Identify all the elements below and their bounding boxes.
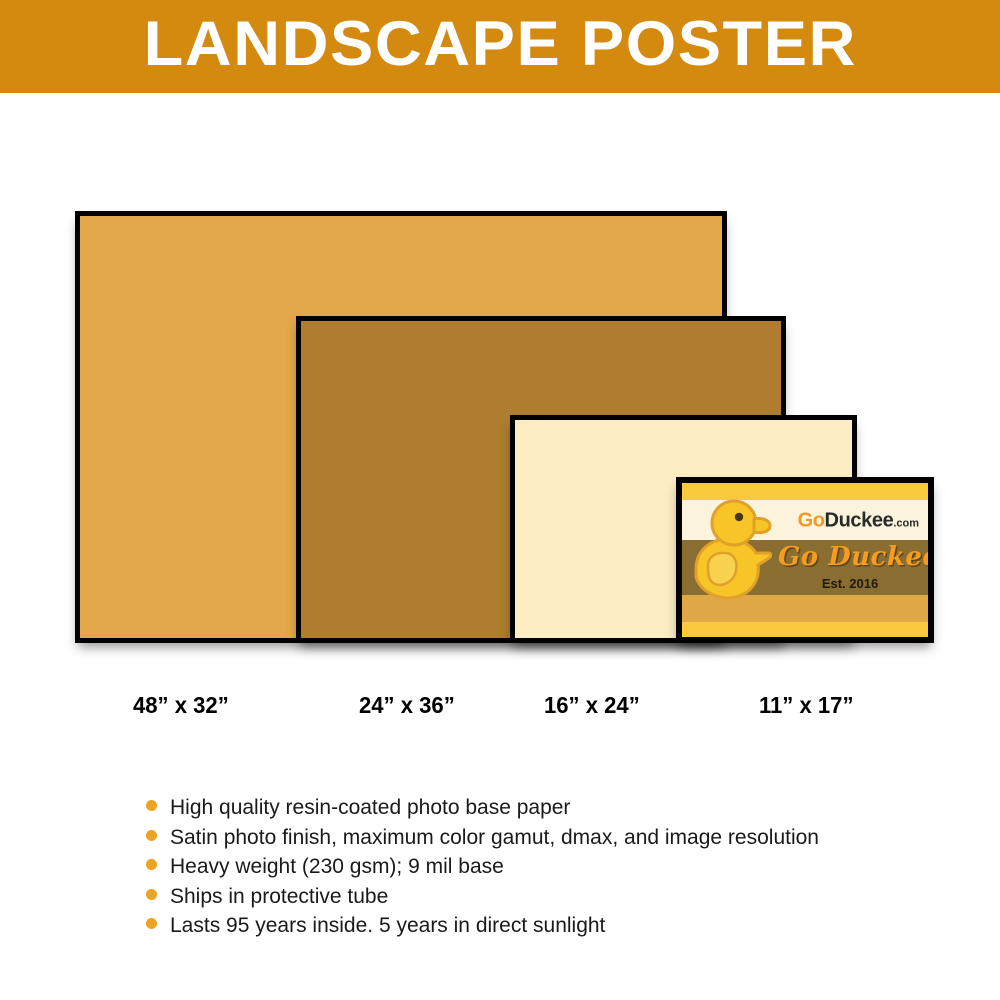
size-label-row: 48” x 32” 24” x 36” 16” x 24” 11” x 17” [0,692,1000,726]
feature-text: Ships in protective tube [170,885,388,909]
logo-wordmark: GoDuckee.com [798,509,919,532]
bullet-dot-icon [146,800,157,811]
list-item: Heavy weight (230 gsm); 9 mil base [146,855,966,879]
bullet-dot-icon [146,889,157,900]
size-label-24x36: 24” x 36” [359,692,455,719]
logo-script-text: Go Duckee [778,542,922,572]
feature-list: High quality resin-coated photo base pap… [146,796,966,944]
size-label-16x24: 16” x 24” [544,692,640,719]
list-item: Ships in protective tube [146,885,966,909]
feature-text: Heavy weight (230 gsm); 9 mil base [170,855,504,879]
list-item: Lasts 95 years inside. 5 years in direct… [146,914,966,938]
logo-wordmark-dotcom: .com [893,517,919,529]
logo-wordmark-go: Go [798,509,825,531]
page-title: LANDSCAPE POSTER [143,13,856,80]
bullet-dot-icon [146,830,157,841]
logo-established-text: Est. 2016 [778,576,922,591]
rubber-duck-icon [688,495,772,611]
logo-band-bottom [682,622,928,637]
goduckee-logo: GoDuckee.com Go Duckee Est. 2016 [682,483,928,637]
poster-size-diagram: GoDuckee.com Go Duckee Est. 2016 [0,93,1000,673]
bullet-dot-icon [146,859,157,870]
feature-text: Satin photo finish, maximum color gamut,… [170,826,819,850]
list-item: Satin photo finish, maximum color gamut,… [146,826,966,850]
list-item: High quality resin-coated photo base pap… [146,796,966,820]
logo-wordmark-duckee: Duckee [825,509,894,531]
feature-text: Lasts 95 years inside. 5 years in direct… [170,914,605,938]
size-label-11x17: 11” x 17” [759,692,854,719]
feature-text: High quality resin-coated photo base pap… [170,796,570,820]
header-banner: LANDSCAPE POSTER [0,0,1000,93]
size-label-48x32: 48” x 32” [133,692,229,719]
bullet-dot-icon [146,918,157,929]
poster-rect-11x17: GoDuckee.com Go Duckee Est. 2016 [676,477,934,643]
